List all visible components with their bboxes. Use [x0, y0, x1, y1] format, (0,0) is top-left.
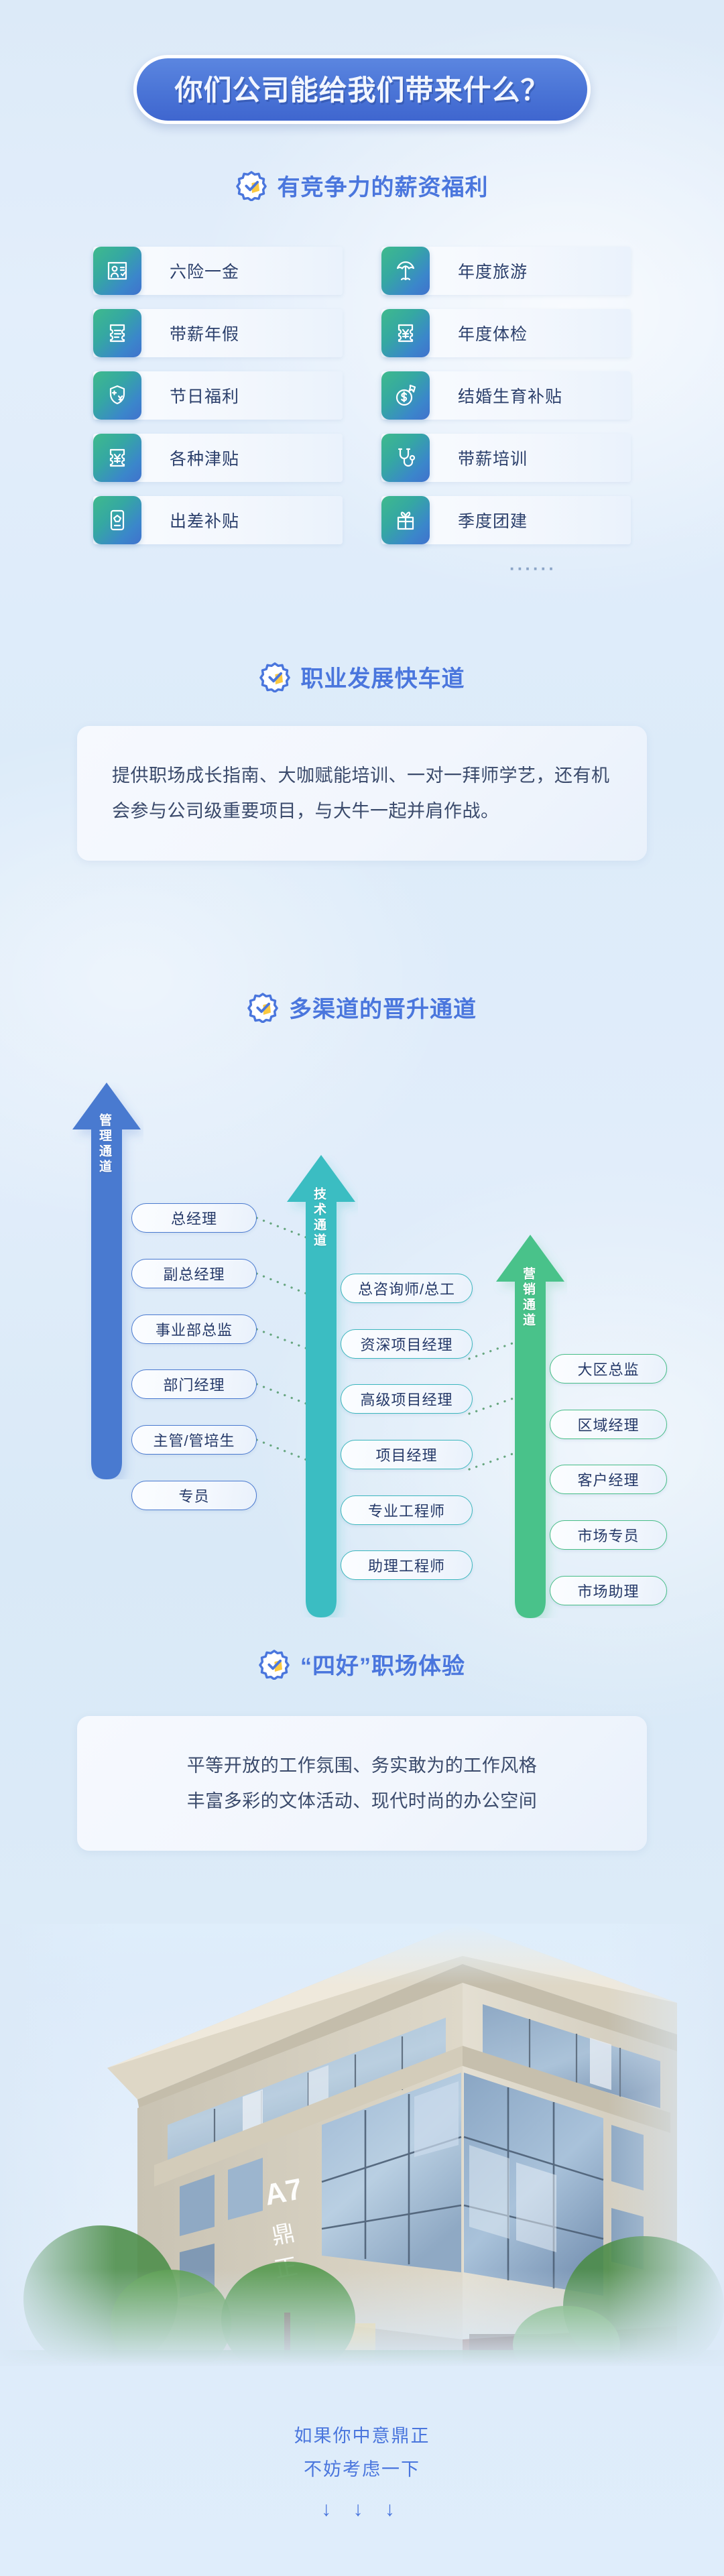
benefit-card[interactable]: 带薪培训: [381, 434, 631, 482]
benefit-label: 各种津贴: [141, 446, 239, 470]
coin-plane-icon: [381, 371, 430, 420]
benefits-row: 各种津贴 带薪培训: [0, 434, 724, 482]
section-heading-workplace: “四好”职场体验: [0, 1648, 724, 1680]
verified-badge-icon: [247, 992, 278, 1023]
benefit-card[interactable]: 季度团建: [381, 496, 631, 544]
ladder-step[interactable]: 总咨询师/总工: [341, 1274, 473, 1303]
benefit-card[interactable]: 六险一金: [93, 247, 343, 295]
stethoscope-icon: [381, 434, 430, 482]
ladder-step[interactable]: 市场助理: [550, 1576, 667, 1605]
section-heading-career: 职业发展快车道: [0, 660, 724, 693]
ladder-step[interactable]: 高级项目经理: [341, 1384, 473, 1414]
ladder-step[interactable]: 部门经理: [131, 1369, 257, 1399]
benefits-row: 带薪年假 年度体检: [0, 309, 724, 357]
down-arrows-icon: ↓ ↓ ↓: [0, 2491, 724, 2528]
benefit-label: 年度体检: [430, 321, 528, 345]
benefit-label: 节日福利: [141, 383, 239, 408]
workplace-info-card: 平等开放的工作氛围、务实敢为的工作风格 丰富多彩的文体活动、现代时尚的办公空间: [77, 1716, 647, 1851]
benefits-grid: 六险一金 年度旅游 带薪年: [0, 247, 724, 579]
section-title-career: 职业发展快车道: [301, 660, 465, 693]
section-title-promotion: 多渠道的晋升通道: [289, 991, 477, 1024]
benefit-label: 带薪年假: [141, 321, 239, 345]
benefit-label: 季度团建: [430, 508, 528, 532]
career-info-card: 提供职场成长指南、大咖赋能培训、一对一拜师学艺，还有机会参与公司级重要项目，与大…: [77, 726, 647, 861]
ladder-step[interactable]: 市场专员: [550, 1520, 667, 1550]
ladder-step[interactable]: 专业工程师: [341, 1495, 473, 1525]
gift-shield-icon: [93, 371, 141, 420]
career-info-text: 提供职场成长指南、大咖赋能培训、一对一拜师学艺，还有机会参与公司级重要项目，与大…: [112, 758, 612, 829]
id-card-icon: [93, 247, 141, 295]
poster-page: 你们公司能给我们带来什么？ 有竞争力的薪资福利: [0, 0, 724, 2576]
ladder-step[interactable]: 专员: [131, 1481, 257, 1510]
benefit-card[interactable]: 结婚生育补贴: [381, 371, 631, 420]
coupon-yen-icon: [381, 309, 430, 357]
ladder-step[interactable]: 副总经理: [131, 1259, 257, 1288]
section-title-salary: 有竞争力的薪资福利: [278, 169, 489, 202]
ladder-step[interactable]: 主管/管培生: [131, 1425, 257, 1455]
benefit-label: 六险一金: [141, 259, 239, 283]
management-channel-label: 管理通道: [98, 1113, 111, 1175]
ladder-step[interactable]: 总经理: [131, 1203, 257, 1233]
promotion-ladder: 管理通道 技术通道 营销通道 总经理 副总经理 事业部总监 部门经理 主管/管培…: [0, 1069, 724, 1579]
benefits-row: 节日福利 结婚生育补贴: [0, 371, 724, 420]
verified-badge-icon: [236, 170, 267, 201]
page-title: 你们公司能给我们带来什么？: [174, 68, 549, 109]
ladder-step[interactable]: 区域经理: [550, 1410, 667, 1439]
benefit-label: 结婚生育补贴: [430, 383, 562, 408]
benefits-more-indicator: ······: [87, 558, 637, 579]
workplace-text-line2: 丰富多彩的文体活动、现代时尚的办公空间: [112, 1784, 612, 1819]
benefits-row: 出差补贴 季度团建: [0, 496, 724, 544]
benefit-card[interactable]: 带薪年假: [93, 309, 343, 357]
benefit-card[interactable]: 各种津贴: [93, 434, 343, 482]
section-heading-salary: 有竞争力的薪资福利: [0, 169, 724, 202]
section-heading-promotion: 多渠道的晋升通道: [0, 991, 724, 1024]
ladder-step[interactable]: 项目经理: [341, 1440, 473, 1469]
ladder-step[interactable]: 资深项目经理: [341, 1329, 473, 1359]
benefit-label: 年度旅游: [430, 259, 528, 283]
footer-cta: 如果你中意鼎正 不妨考虑一下 ↓ ↓ ↓: [0, 2420, 724, 2528]
benefit-label: 带薪培训: [430, 446, 528, 470]
benefit-card[interactable]: 年度体检: [381, 309, 631, 357]
benefit-card[interactable]: 节日福利: [93, 371, 343, 420]
verified-badge-icon: [259, 662, 290, 692]
footer-line-1: 如果你中意鼎正: [0, 2420, 724, 2453]
coupon-yen-icon: [93, 434, 141, 482]
footer-line-2: 不妨考虑一下: [0, 2453, 724, 2487]
benefit-card[interactable]: 年度旅游: [381, 247, 631, 295]
tech-channel-label: 技术通道: [312, 1187, 325, 1249]
workplace-text-line1: 平等开放的工作氛围、务实敢为的工作风格: [112, 1748, 612, 1784]
benefits-row: 六险一金 年度旅游: [0, 247, 724, 295]
beach-umbrella-icon: [381, 247, 430, 295]
gift-box-icon: [381, 496, 430, 544]
benefit-label: 出差补贴: [141, 508, 239, 532]
ladder-step[interactable]: 助理工程师: [341, 1550, 473, 1580]
section-title-workplace: “四好”职场体验: [300, 1648, 465, 1680]
ladder-step[interactable]: 事业部总监: [131, 1314, 257, 1344]
verified-badge-icon: [259, 1649, 290, 1680]
benefit-card[interactable]: 出差补贴: [93, 496, 343, 544]
ladder-step[interactable]: 大区总监: [550, 1354, 667, 1384]
phone-badge-icon: [93, 496, 141, 544]
ticket-icon: [93, 309, 141, 357]
hero-title-wrap: 你们公司能给我们带来什么？: [0, 55, 724, 124]
ladder-step[interactable]: 客户经理: [550, 1465, 667, 1494]
marketing-channel-label: 营销通道: [522, 1267, 534, 1329]
hero-title-pill: 你们公司能给我们带来什么？: [133, 55, 590, 124]
office-building-photo: A7 鼎 正: [0, 1924, 724, 2366]
